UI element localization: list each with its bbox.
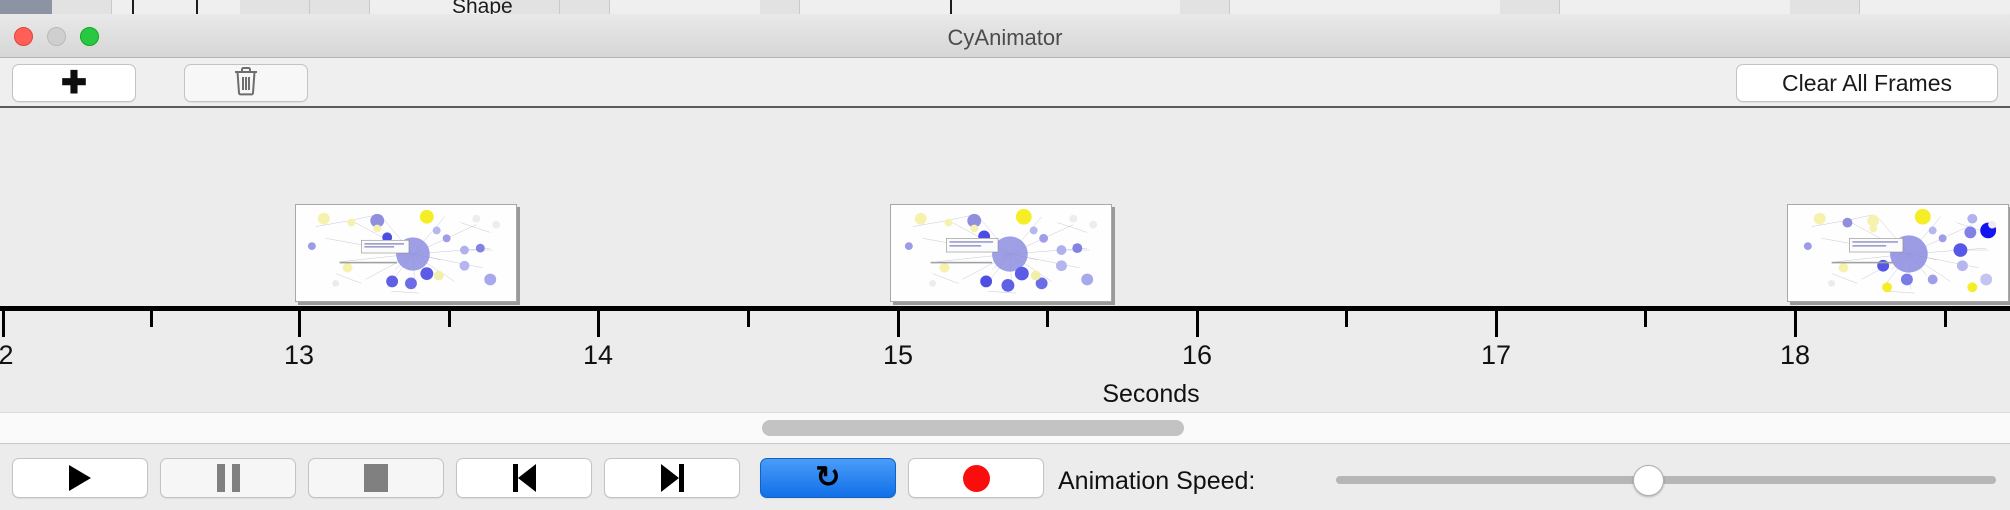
ruler-tick-minor [1644,311,1647,327]
loop-button[interactable]: ↻ [760,458,896,498]
stop-button[interactable] [308,458,444,498]
ruler-label: 16 [1182,340,1212,371]
ruler-tick-minor [1345,311,1348,327]
frame-toolbar: ✚ Clear All Frames [0,58,2010,108]
ruler-tick-minor [448,311,451,327]
ruler-tick-major [1495,311,1498,337]
ruler-label: 18 [1780,340,1810,371]
record-icon [963,465,990,492]
delete-frame-button[interactable] [184,64,308,102]
ruler-tick-minor [1944,311,1947,327]
animation-speed-slider-thumb[interactable] [1633,465,1664,496]
timeline-panel[interactable]: 2 13 14 15 16 17 18 Seconds [0,110,2010,410]
ruler-tick-major [1196,311,1199,337]
cyanimator-window: Shape CyAnimator ✚ Clear All Frames [0,0,2010,510]
frame-thumbnail-network [891,205,1111,301]
timeline-frame[interactable] [890,204,1112,302]
window-title: CyAnimator [0,25,2010,51]
ruler-tick-major [897,311,900,337]
ruler-tick-major [2,311,5,337]
timeline-axis-title: Seconds [0,380,2010,409]
trash-icon [233,66,259,101]
ruler-tick-major [298,311,301,337]
background-window-label: Shape [452,0,513,14]
skip-forward-button[interactable] [604,458,740,498]
loop-icon: ↻ [815,463,840,493]
timeline-frame[interactable] [295,204,517,302]
timeline-scrollbar[interactable] [0,412,2010,444]
scrollbar-thumb[interactable] [762,420,1184,436]
add-frame-button[interactable]: ✚ [12,64,136,102]
play-icon [69,465,91,491]
ruler-tick-major [1794,311,1797,337]
ruler-tick-minor [150,311,153,327]
ruler-baseline [0,306,2010,311]
ruler-tick-major [597,311,600,337]
ruler-tick-minor [747,311,750,327]
play-button[interactable] [12,458,148,498]
frame-thumbnail-network [1788,205,2008,301]
axis-title-text: Seconds [1102,380,1199,408]
clear-all-frames-button[interactable]: Clear All Frames [1736,64,1998,102]
ruler-label: 14 [583,340,613,371]
skip-forward-icon [661,464,684,492]
ruler-label: 2 [0,340,14,371]
frame-thumbnail-network [296,205,516,301]
transport-bar: ↻ Animation Speed: [0,445,2010,510]
pause-button[interactable] [160,458,296,498]
skip-back-icon [513,464,536,492]
background-window-strip: Shape [0,0,2010,14]
frames-track[interactable] [0,110,2010,306]
record-button[interactable] [908,458,1044,498]
ruler-label: 13 [284,340,314,371]
ruler-label: 17 [1481,340,1511,371]
plus-icon: ✚ [61,71,87,96]
stop-icon [364,464,388,492]
timeline-ruler[interactable]: 2 13 14 15 16 17 18 Seconds [0,306,2010,410]
animation-speed-slider-track[interactable] [1336,476,1996,484]
pause-icon [217,464,240,492]
timeline-frame[interactable] [1787,204,2009,302]
animation-speed-label: Animation Speed: [1058,467,1255,496]
skip-back-button[interactable] [456,458,592,498]
ruler-tick-minor [1046,311,1049,327]
ruler-label: 15 [883,340,913,371]
title-bar: CyAnimator [0,14,2010,58]
